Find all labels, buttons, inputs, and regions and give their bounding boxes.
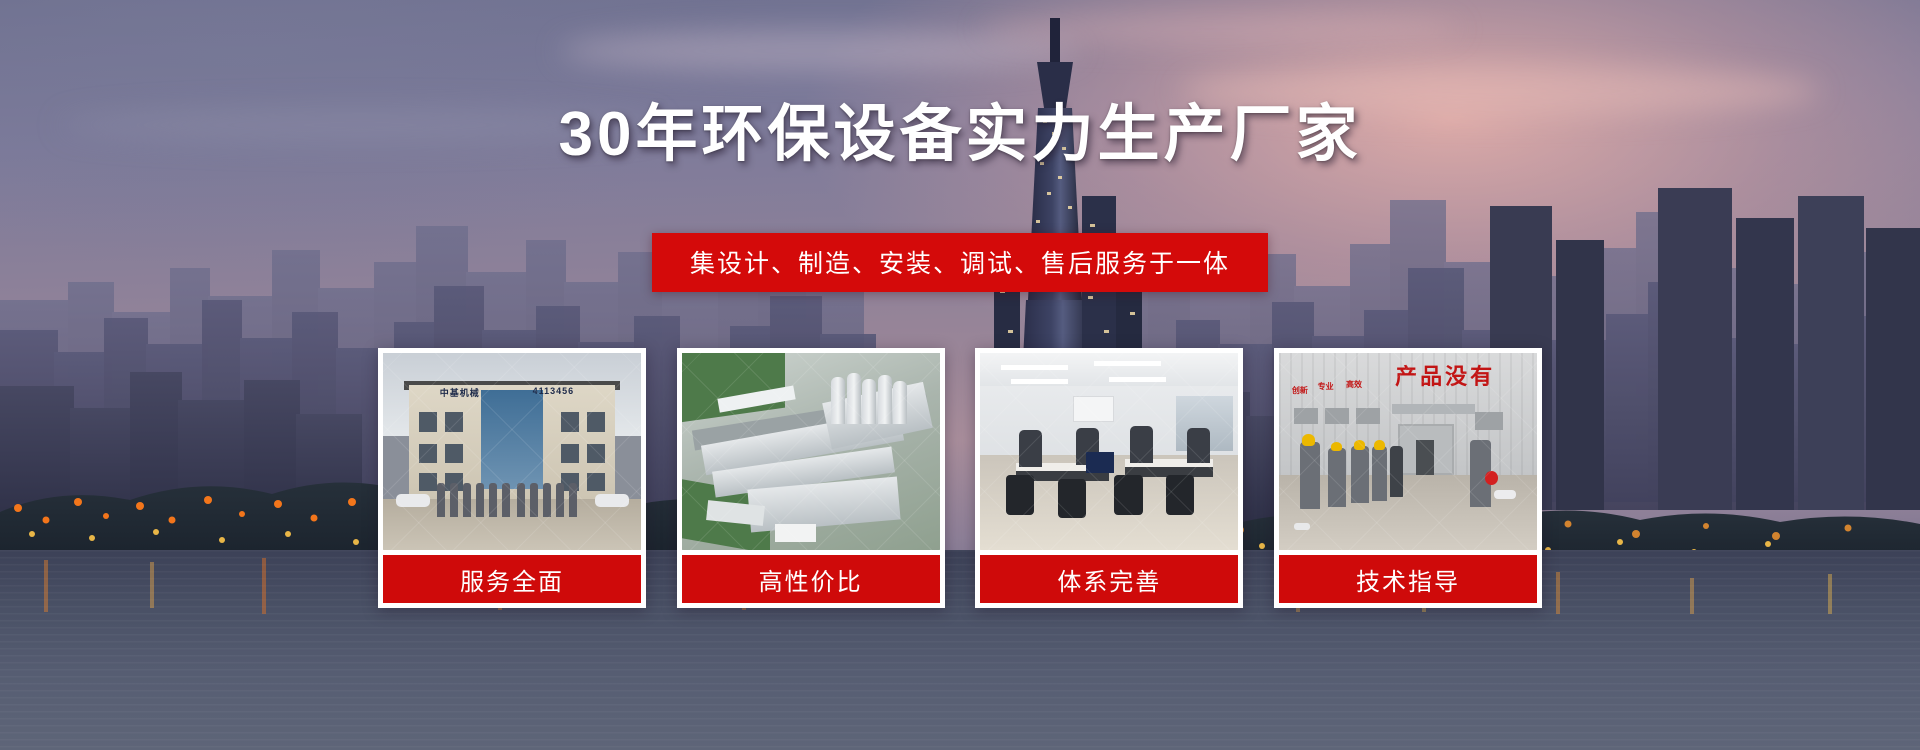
feature-card[interactable]: 中基机械 4113456 xyxy=(378,348,646,608)
company-office-building-staff-photo: 中基机械 4113456 xyxy=(383,353,641,550)
subtitle-banner: 集设计、制造、安装、调试、售后服务于一体 xyxy=(652,233,1268,292)
feature-card-label: 高性价比 xyxy=(682,555,940,603)
factory-workers-training-photo: 产品没有 创新 专业 高效 xyxy=(1279,353,1537,550)
page-title: 30年环保设备实力生产厂家 xyxy=(0,104,1920,166)
feature-card-label: 技术指导 xyxy=(1279,555,1537,603)
office-meeting-room-photo xyxy=(980,353,1238,550)
feature-card[interactable]: 高性价比 xyxy=(677,348,945,608)
feature-card[interactable]: 体系完善 xyxy=(975,348,1243,608)
feature-card-label: 体系完善 xyxy=(980,555,1238,603)
aerial-industrial-plant-photo xyxy=(682,353,940,550)
feature-card-label: 服务全面 xyxy=(383,555,641,603)
feature-card-list: 中基机械 4113456 xyxy=(378,348,1542,608)
feature-card[interactable]: 产品没有 创新 专业 高效 xyxy=(1274,348,1542,608)
hero-banner: 30年环保设备实力生产厂家 集设计、制造、安装、调试、售后服务于一体 xyxy=(0,0,1920,750)
